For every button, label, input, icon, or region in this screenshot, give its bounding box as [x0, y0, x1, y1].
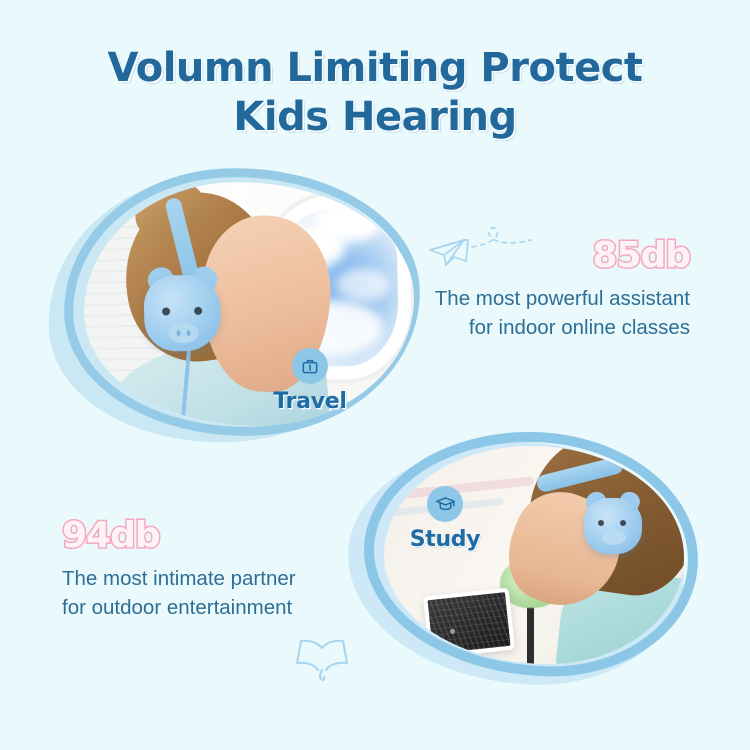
travel-photo: [58, 168, 426, 440]
page-title: Volumn Limiting Protect Kids Hearing: [0, 44, 750, 142]
tablet-device: [423, 588, 515, 659]
graduation-cap-icon: [427, 486, 463, 522]
marketing-banner: Volumn Limiting Protect Kids Hearing: [0, 0, 750, 750]
title-line-1: Volumn Limiting Protect: [0, 44, 750, 93]
title-line-2: Kids Hearing: [0, 93, 750, 142]
db-badge-85: 85db: [430, 238, 690, 274]
open-book-icon: [292, 634, 352, 691]
study-label: Study: [385, 527, 505, 552]
travel-label: Travel: [250, 389, 370, 414]
study-photo-image: [384, 446, 684, 664]
travel-category-badge: Travel: [250, 348, 370, 414]
feature-block-94db: 94db The most intimate partner for outdo…: [62, 518, 322, 622]
feature-copy-94db: The most intimate partner for outdoor en…: [62, 564, 322, 622]
luggage-icon: [292, 348, 328, 384]
study-category-badge: Study: [385, 486, 505, 552]
db-badge-94: 94db: [62, 518, 322, 554]
feature-block-85db: 85db The most powerful assistant for ind…: [430, 238, 690, 342]
study-photo: [360, 432, 702, 680]
headphone-earcup: [584, 498, 642, 554]
feature-copy-85db: The most powerful assistant for indoor o…: [430, 284, 690, 342]
